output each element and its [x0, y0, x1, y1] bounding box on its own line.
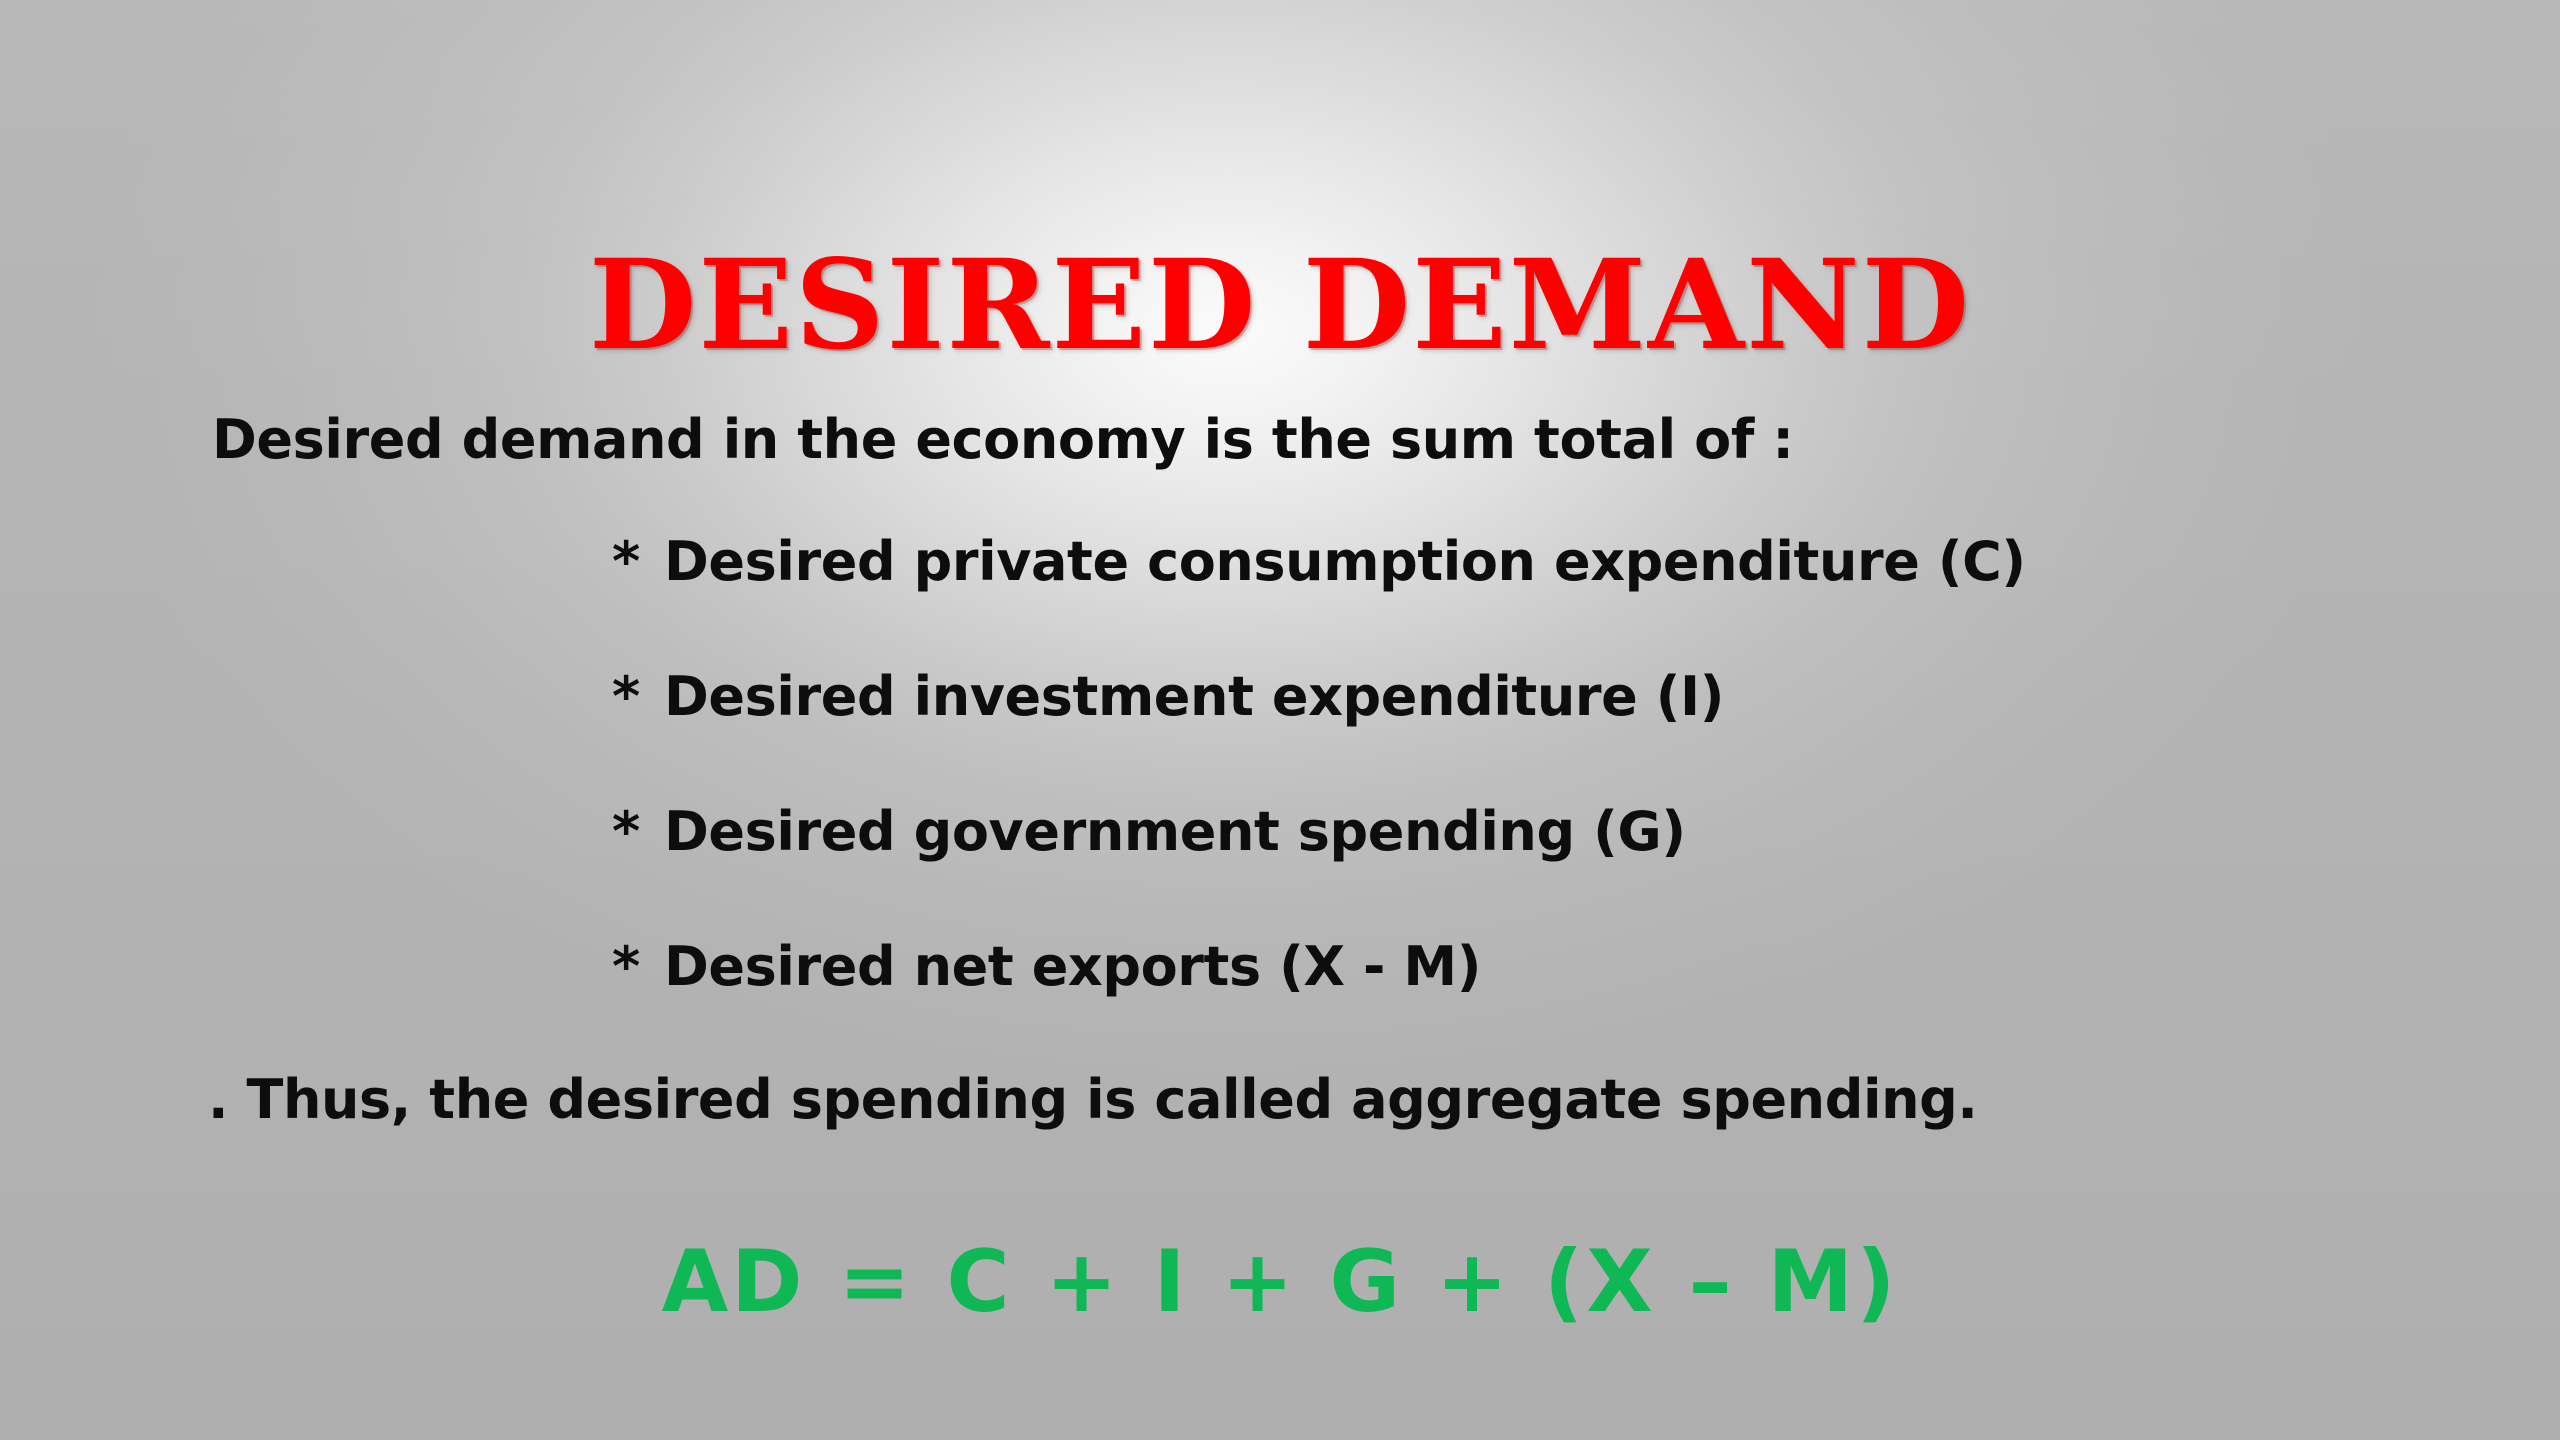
list-item-label: Desired private consumption expenditure …	[664, 530, 2026, 593]
list-item-label: Desired net exports (X - M)	[664, 935, 1481, 998]
list-item: * Desired net exports (X - M)	[612, 935, 2026, 1070]
slide-canvas: DESIRED DEMAND Desired demand in the eco…	[0, 0, 2560, 1440]
bullet-list: * Desired private consumption expenditur…	[612, 530, 2026, 1070]
asterisk-bullet-icon: *	[612, 940, 664, 994]
asterisk-bullet-icon: *	[612, 535, 664, 589]
slide-title: DESIRED DEMAND	[0, 241, 2560, 371]
asterisk-bullet-icon: *	[612, 805, 664, 859]
lead-line: Desired demand in the economy is the sum…	[212, 408, 1794, 471]
slide-content: DESIRED DEMAND Desired demand in the eco…	[0, 0, 2560, 1440]
asterisk-bullet-icon: *	[612, 670, 664, 724]
list-item: * Desired investment expenditure (I)	[612, 665, 2026, 800]
list-item-label: Desired investment expenditure (I)	[664, 665, 1724, 728]
closing-line: . Thus, the desired spending is called a…	[208, 1068, 1978, 1131]
list-item: * Desired private consumption expenditur…	[612, 530, 2026, 665]
list-item: * Desired government spending (G)	[612, 800, 2026, 935]
list-item-label: Desired government spending (G)	[664, 800, 1686, 863]
aggregate-demand-formula: AD = C + I + G + (X – M)	[0, 1232, 2560, 1332]
